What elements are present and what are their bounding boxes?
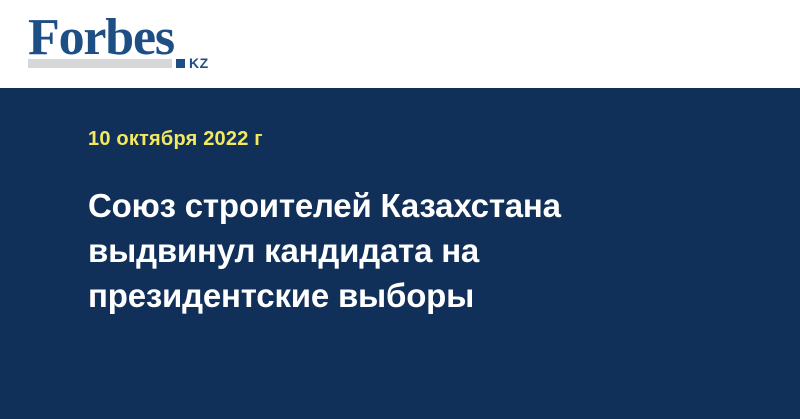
- article-headline: Союз строителей Казахстана выдвинул канд…: [88, 150, 663, 318]
- logo-wordmark: Forbes: [28, 12, 174, 64]
- forbes-kz-logo[interactable]: Forbes KZ: [28, 12, 228, 78]
- logo-square-icon: [176, 59, 185, 68]
- article-hero-card: Forbes KZ 10 октября 2022 г Союз строите…: [0, 0, 800, 419]
- hero-section: 10 октября 2022 г Союз строителей Казахс…: [0, 88, 800, 419]
- hero-content: 10 октября 2022 г Союз строителей Казахс…: [88, 88, 740, 318]
- article-date: 10 октября 2022 г: [88, 88, 740, 150]
- logo-rule-decoration: [28, 59, 172, 68]
- site-header: Forbes KZ: [0, 0, 800, 88]
- logo-region-code: KZ: [189, 56, 209, 70]
